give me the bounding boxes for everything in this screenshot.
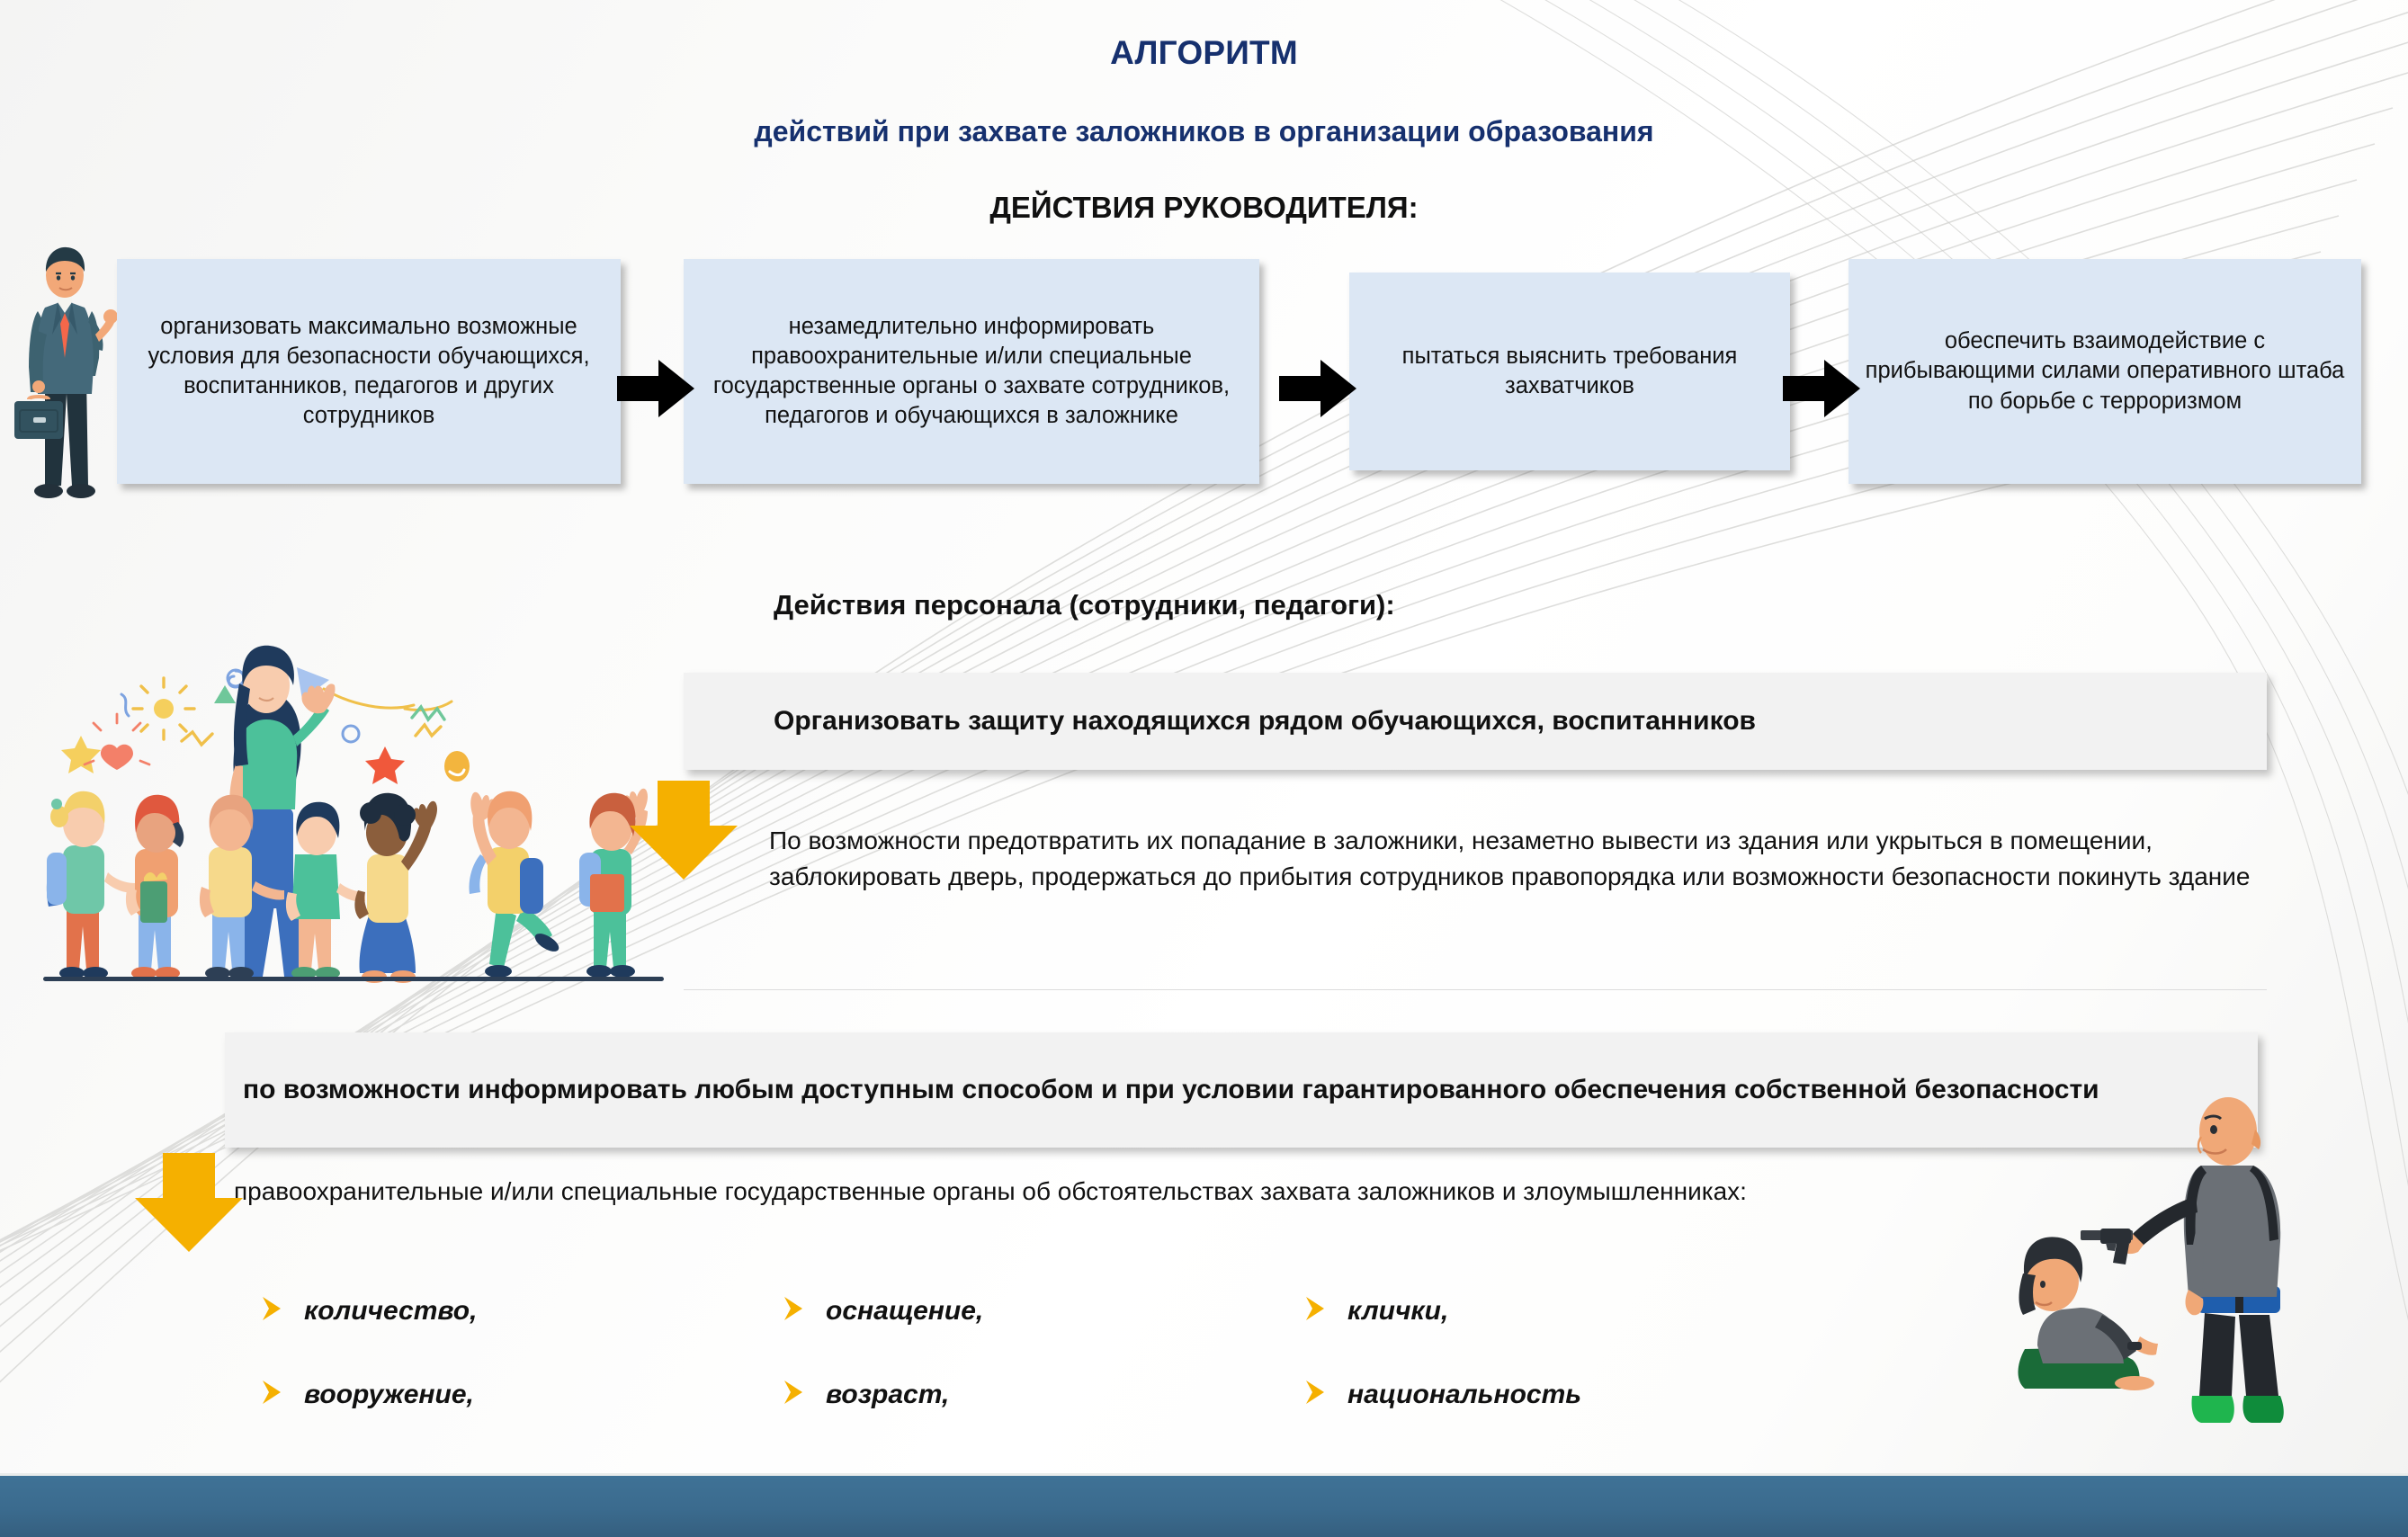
- yellow-arrow-down-icon-1: [630, 781, 738, 884]
- flow-arrow-right-icon-2: [1279, 360, 1356, 417]
- flow-box-1-text: организовать максимально возможные услов…: [117, 312, 621, 432]
- flow-box-2: незамедлительно информировать правоохран…: [684, 259, 1259, 484]
- businessman-illustration: [9, 241, 117, 515]
- slide-subtitle: действий при захвате заложников в органи…: [0, 115, 2408, 148]
- list-item: количество,: [261, 1295, 783, 1327]
- slide-title: АЛГОРИТМ: [0, 34, 2408, 72]
- chevron-bullet-icon: [261, 1295, 284, 1327]
- list-item: возраст,: [783, 1379, 1304, 1410]
- bullet-label: оснащение,: [826, 1296, 983, 1327]
- chevron-bullet-icon: [1304, 1379, 1328, 1410]
- info-bullet-list: количество, оснащение, клички, вооружени…: [261, 1295, 2060, 1410]
- staff-section-divider: [684, 989, 2267, 990]
- hostage-taking-illustration: [1965, 1079, 2343, 1443]
- bottom-accent-bar: [0, 1476, 2408, 1537]
- list-item: вооружение,: [261, 1379, 783, 1410]
- bullet-label: вооружение,: [304, 1380, 474, 1410]
- chevron-bullet-icon: [783, 1379, 806, 1410]
- flow-box-4-text: обеспечить взаимодействие с прибывающими…: [1849, 326, 2361, 416]
- teacher-with-children-illustration: [27, 630, 693, 994]
- director-actions-flow: организовать максимально возможные услов…: [0, 259, 2408, 484]
- chevron-bullet-icon: [1304, 1295, 1328, 1327]
- flow-box-1: организовать максимально возможные услов…: [117, 259, 621, 484]
- bullet-label: количество,: [304, 1296, 477, 1327]
- chevron-bullet-icon: [261, 1379, 284, 1410]
- slide-canvas: АЛГОРИТМ действий при захвате заложников…: [0, 0, 2408, 1537]
- bullet-label: национальность: [1347, 1380, 1581, 1410]
- flow-box-3-text: пытаться выяснить требования захватчиков: [1349, 342, 1790, 401]
- chevron-bullet-icon: [783, 1295, 806, 1327]
- flow-box-3: пытаться выяснить требования захватчиков: [1349, 273, 1790, 470]
- inform-heading-bar-text: по возможности информировать любым досту…: [225, 1072, 2099, 1108]
- section-heading-director: ДЕЙСТВИЯ РУКОВОДИТЕЛЯ:: [0, 191, 2408, 225]
- inform-heading-bar: по возможности информировать любым досту…: [225, 1032, 2258, 1148]
- list-item: оснащение,: [783, 1295, 1304, 1327]
- list-item: клички,: [1304, 1295, 1844, 1327]
- staff-heading-bar: Организовать защиту находящихся рядом об…: [684, 673, 2267, 770]
- yellow-arrow-down-icon-2: [135, 1153, 243, 1256]
- section-heading-staff: Действия персонала (сотрудники, педагоги…: [774, 589, 1395, 621]
- flow-box-2-text: незамедлительно информировать правоохран…: [684, 312, 1259, 432]
- bullet-label: возраст,: [826, 1380, 949, 1410]
- list-item: национальность: [1304, 1379, 1844, 1410]
- inform-paragraph: правоохранительные и/или специальные гос…: [234, 1174, 1763, 1210]
- flow-arrow-right-icon-1: [617, 360, 694, 417]
- staff-paragraph: По возможности предотвратить их попадани…: [769, 823, 2280, 896]
- staff-heading-bar-text: Организовать защиту находящихся рядом об…: [684, 706, 1756, 737]
- bullet-label: клички,: [1347, 1296, 1448, 1327]
- flow-box-4: обеспечить взаимодействие с прибывающими…: [1849, 259, 2361, 484]
- flow-arrow-right-icon-3: [1783, 360, 1860, 417]
